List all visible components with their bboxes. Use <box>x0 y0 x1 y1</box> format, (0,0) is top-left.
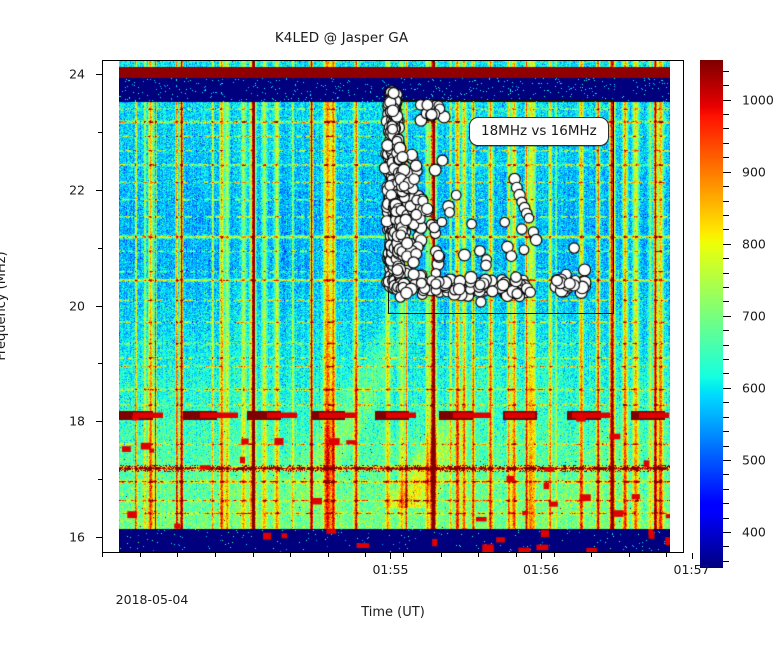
colorbar-tick-label-1000: 1000 <box>742 92 774 107</box>
x-tick-minor <box>403 553 404 557</box>
y-tick-major-18 <box>96 421 102 422</box>
y-tick-minor-17 <box>98 479 102 480</box>
y-tick-label-16: 16 <box>69 529 85 544</box>
x-tick-minor <box>478 553 479 557</box>
x-tick-label-01:55: 01:55 <box>372 562 408 577</box>
y-tick-label-22: 22 <box>69 183 85 198</box>
colorbar-tick-minor <box>723 128 729 129</box>
colorbar-tick-minor <box>723 345 729 346</box>
colorbar-tick-major-900 <box>723 172 731 173</box>
colorbar-tick-minor <box>723 561 729 562</box>
colorbar-tick-minor <box>723 474 729 475</box>
colorbar-tick-minor <box>723 330 729 331</box>
colorbar-tick-major-400 <box>723 532 731 533</box>
colorbar-tick-label-600: 600 <box>742 380 766 395</box>
colorbar-tick-minor <box>723 71 729 72</box>
colorbar-tick-minor <box>723 503 729 504</box>
colorbar-tick-minor <box>723 417 729 418</box>
x-tick-minor <box>441 553 442 557</box>
colorbar-tick-minor <box>723 258 729 259</box>
x-tick-label-01:57: 01:57 <box>674 562 710 577</box>
colorbar-tick-minor <box>723 546 729 547</box>
x-tick-minor <box>365 553 366 557</box>
colorbar-tick-major-1000 <box>723 100 731 101</box>
colorbar-tick-label-900: 900 <box>742 164 766 179</box>
colorbar-tick-label-400: 400 <box>742 524 766 539</box>
x-tick-minor <box>177 553 178 557</box>
colorbar-tick-minor <box>723 359 729 360</box>
y-tick-major-24 <box>96 74 102 75</box>
y-tick-major-20 <box>96 306 102 307</box>
colorbar-tick-label-800: 800 <box>742 236 766 251</box>
x-tick-major-01:56 <box>541 553 542 559</box>
y-tick-minor-21 <box>98 248 102 249</box>
colorbar-tick-major-600 <box>723 388 731 389</box>
colorbar-tick-minor <box>723 489 729 490</box>
colorbar-tick-minor <box>723 229 729 230</box>
colorbar-tick-major-700 <box>723 316 731 317</box>
colorbar-tick-minor <box>723 273 729 274</box>
colorbar-tick-major-800 <box>723 244 731 245</box>
y-axis-label: Frequency (MHz) <box>0 251 9 360</box>
y-tick-minor-23 <box>98 132 102 133</box>
colorbar-tick-minor <box>723 373 729 374</box>
x-tick-minor <box>516 553 517 557</box>
colorbar-tick-label-700: 700 <box>742 308 766 323</box>
x-tick-minor <box>253 553 254 557</box>
colorbar-tick-minor <box>723 402 729 403</box>
x-tick-major-01:57 <box>692 553 693 559</box>
colorbar-tick-major-500 <box>723 460 731 461</box>
colorbar-tick-minor <box>723 518 729 519</box>
x-tick-minor <box>554 553 555 557</box>
y-tick-major-16 <box>96 537 102 538</box>
x-tick-minor <box>629 553 630 557</box>
colorbar-tick-minor <box>723 287 729 288</box>
colorbar-tick-minor <box>723 114 729 115</box>
y-tick-label-20: 20 <box>69 298 85 313</box>
y-tick-minor-19 <box>98 363 102 364</box>
colorbar-tick-minor <box>723 157 729 158</box>
x-tick-minor <box>140 553 141 557</box>
x-tick-minor <box>102 553 103 557</box>
colorbar-tick-minor <box>723 431 729 432</box>
colorbar-tick-minor <box>723 186 729 187</box>
x-axis-label: Time (UT) <box>102 605 684 620</box>
colorbar-tick-minor <box>723 85 729 86</box>
x-tick-minor <box>290 553 291 557</box>
y-tick-major-22 <box>96 190 102 191</box>
annotation-box: 18MHz vs 16MHz <box>469 117 609 146</box>
x-tick-minor <box>328 553 329 557</box>
x-axis-date-label: 2018-05-04 <box>116 592 189 607</box>
colorbar-tick-label-500: 500 <box>742 452 766 467</box>
y-tick-label-18: 18 <box>69 414 85 429</box>
x-tick-minor <box>215 553 216 557</box>
x-tick-minor <box>591 553 592 557</box>
x-tick-minor <box>666 553 667 557</box>
x-tick-major-01:55 <box>390 553 391 559</box>
colorbar-tick-minor <box>723 301 729 302</box>
y-tick-label-24: 24 <box>69 67 85 82</box>
colorbar-frame <box>700 60 723 568</box>
chart-title: K4LED @ Jasper GA <box>0 30 683 46</box>
colorbar-tick-minor <box>723 446 729 447</box>
colorbar-tick-minor <box>723 143 729 144</box>
colorbar-tick-minor <box>723 215 729 216</box>
x-tick-label-01:56: 01:56 <box>523 562 559 577</box>
colorbar-tick-minor <box>723 201 729 202</box>
